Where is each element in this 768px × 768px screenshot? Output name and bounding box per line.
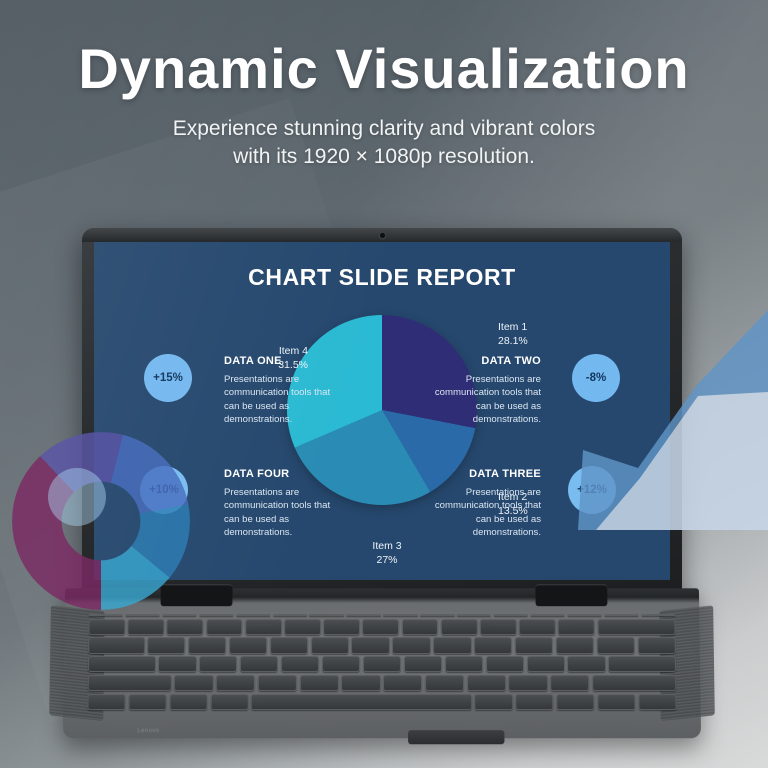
key-4[interactable] [245,619,282,635]
data-block-two-body: Presentations are communication tools th… [435,374,541,426]
data-block-three-body: Presentations are communication tools th… [435,487,541,539]
pie-label-item-3-value: 27% [352,553,422,567]
subtitle-line-1: Experience stunning clarity and vibrant … [173,117,596,140]
key-e[interactable] [229,637,267,653]
keyboard-row-home[interactable] [88,656,676,672]
key-t[interactable] [311,637,349,653]
key-h[interactable] [363,656,401,672]
subtitle-line-2: with its 1920 × 1080p resolution. [0,143,768,171]
page-subtitle: Experience stunning clarity and vibrant … [0,115,768,172]
key-right[interactable] [638,694,677,710]
page-title: Dynamic Visualization [0,40,768,99]
key-[interactable] [467,675,506,691]
key-[interactable] [550,675,589,691]
keyboard-row-function[interactable] [89,614,676,616]
key-q[interactable] [147,637,186,653]
key-[interactable] [556,637,594,653]
data-block-two: DATA TWO Presentations are communication… [419,354,541,427]
key-f1[interactable] [125,614,159,616]
key-3[interactable] [206,619,243,635]
key-backspace[interactable] [597,619,675,635]
key-shift[interactable] [592,675,676,691]
key-insert[interactable] [604,614,638,616]
keyboard-row-modifiers[interactable] [87,694,676,710]
key-[interactable] [519,619,556,635]
key-k[interactable] [445,656,484,672]
data-block-four-heading: DATA FOUR [224,467,346,483]
key-alt[interactable] [474,694,513,710]
key-f9[interactable] [420,614,454,616]
key-f4[interactable] [236,614,270,616]
key-fn[interactable] [128,694,167,710]
key-9[interactable] [441,619,478,635]
data-block-four: DATA FOUR Presentations are communicatio… [224,467,346,540]
key-7[interactable] [362,619,399,635]
laptop-trackpad[interactable] [408,730,504,744]
key-delete[interactable] [641,614,675,616]
header: Dynamic Visualization Experience stunnin… [0,40,768,171]
key-[interactable] [526,656,565,672]
key-x[interactable] [216,675,255,691]
data-block-two-heading: DATA TWO [419,354,541,370]
key-b[interactable] [341,675,380,691]
key-[interactable] [558,619,595,635]
key-v[interactable] [300,675,339,691]
key-2[interactable] [167,619,204,635]
key-alt[interactable] [210,694,249,710]
key-[interactable] [567,656,606,672]
key-f10[interactable] [457,614,491,616]
key-1[interactable] [128,619,165,635]
key-ctrl[interactable] [515,694,554,710]
key-enter[interactable] [608,656,676,672]
key-[interactable] [596,637,635,653]
key-capslk[interactable] [88,656,156,672]
key-8[interactable] [402,619,439,635]
decorative-area-chart [578,300,768,530]
key-f12[interactable] [531,614,565,616]
webcam-icon [380,233,385,238]
key-up-down[interactable] [597,694,636,710]
key-shift[interactable] [88,675,172,691]
pie-label-item-1-name: Item 1 [498,320,528,334]
key-f6[interactable] [310,614,344,616]
data-block-one-body: Presentations are communication tools th… [224,374,330,426]
key-m[interactable] [425,675,464,691]
key-g[interactable] [322,656,360,672]
key-win[interactable] [169,694,208,710]
data-block-three: DATA THREE Presentations are communicati… [419,467,541,540]
key-[interactable] [509,675,548,691]
laptop-brand-label: Lenovo [137,728,159,734]
key-0[interactable] [480,619,517,635]
decorative-donut-highlight [48,468,106,526]
key-tab[interactable] [88,637,145,653]
key-prtsc[interactable] [567,614,601,616]
data-block-one: DATA ONE Presentations are communication… [224,354,346,427]
keyboard-row-bottom[interactable] [88,675,677,691]
key-z[interactable] [174,675,213,691]
key-f7[interactable] [346,614,380,616]
key-f3[interactable] [199,614,233,616]
laptop-base: Lenovo [63,588,701,738]
keyboard-row-numbers[interactable] [88,619,675,635]
key-f5[interactable] [273,614,307,616]
key-l[interactable] [486,656,525,672]
key-esc[interactable] [89,614,123,616]
slide-title: CHART SLIDE REPORT [94,264,670,291]
key-a[interactable] [158,656,197,672]
key-i[interactable] [433,637,471,653]
data-block-one-heading: DATA ONE [224,354,346,370]
keyboard-row-qwerty[interactable] [88,637,676,653]
key-[interactable] [88,619,125,635]
key-c[interactable] [258,675,297,691]
key-left[interactable] [556,694,595,710]
key-d[interactable] [240,656,279,672]
key-p[interactable] [515,637,553,653]
key-6[interactable] [323,619,360,635]
laptop-keyboard[interactable] [87,614,676,710]
key-ctrl[interactable] [87,694,126,710]
key-r[interactable] [270,637,308,653]
decorative-donut-chart [12,432,190,610]
key-w[interactable] [188,637,226,653]
pie-label-item-1: Item 1 28.1% [498,320,528,348]
key-f[interactable] [281,656,320,672]
key-space[interactable] [251,694,472,710]
key-f11[interactable] [494,614,528,616]
key-o[interactable] [474,637,512,653]
pie-label-item-3: Item 3 27% [352,539,422,567]
key-u[interactable] [392,637,430,653]
laptop-hinge-left [161,584,233,606]
key-s[interactable] [199,656,238,672]
key-j[interactable] [404,656,442,672]
laptop-hinge-right [535,584,607,606]
key-f8[interactable] [383,614,417,616]
key-n[interactable] [383,675,422,691]
key-y[interactable] [351,637,389,653]
data-block-three-heading: DATA THREE [419,467,541,483]
badge-data-one: +15% [144,354,192,402]
data-block-four-body: Presentations are communication tools th… [224,487,330,539]
pie-label-item-3-name: Item 3 [352,539,422,553]
key-f2[interactable] [162,614,196,616]
key-[interactable] [637,637,676,653]
key-5[interactable] [284,619,321,635]
pie-label-item-1-value: 28.1% [498,334,528,348]
